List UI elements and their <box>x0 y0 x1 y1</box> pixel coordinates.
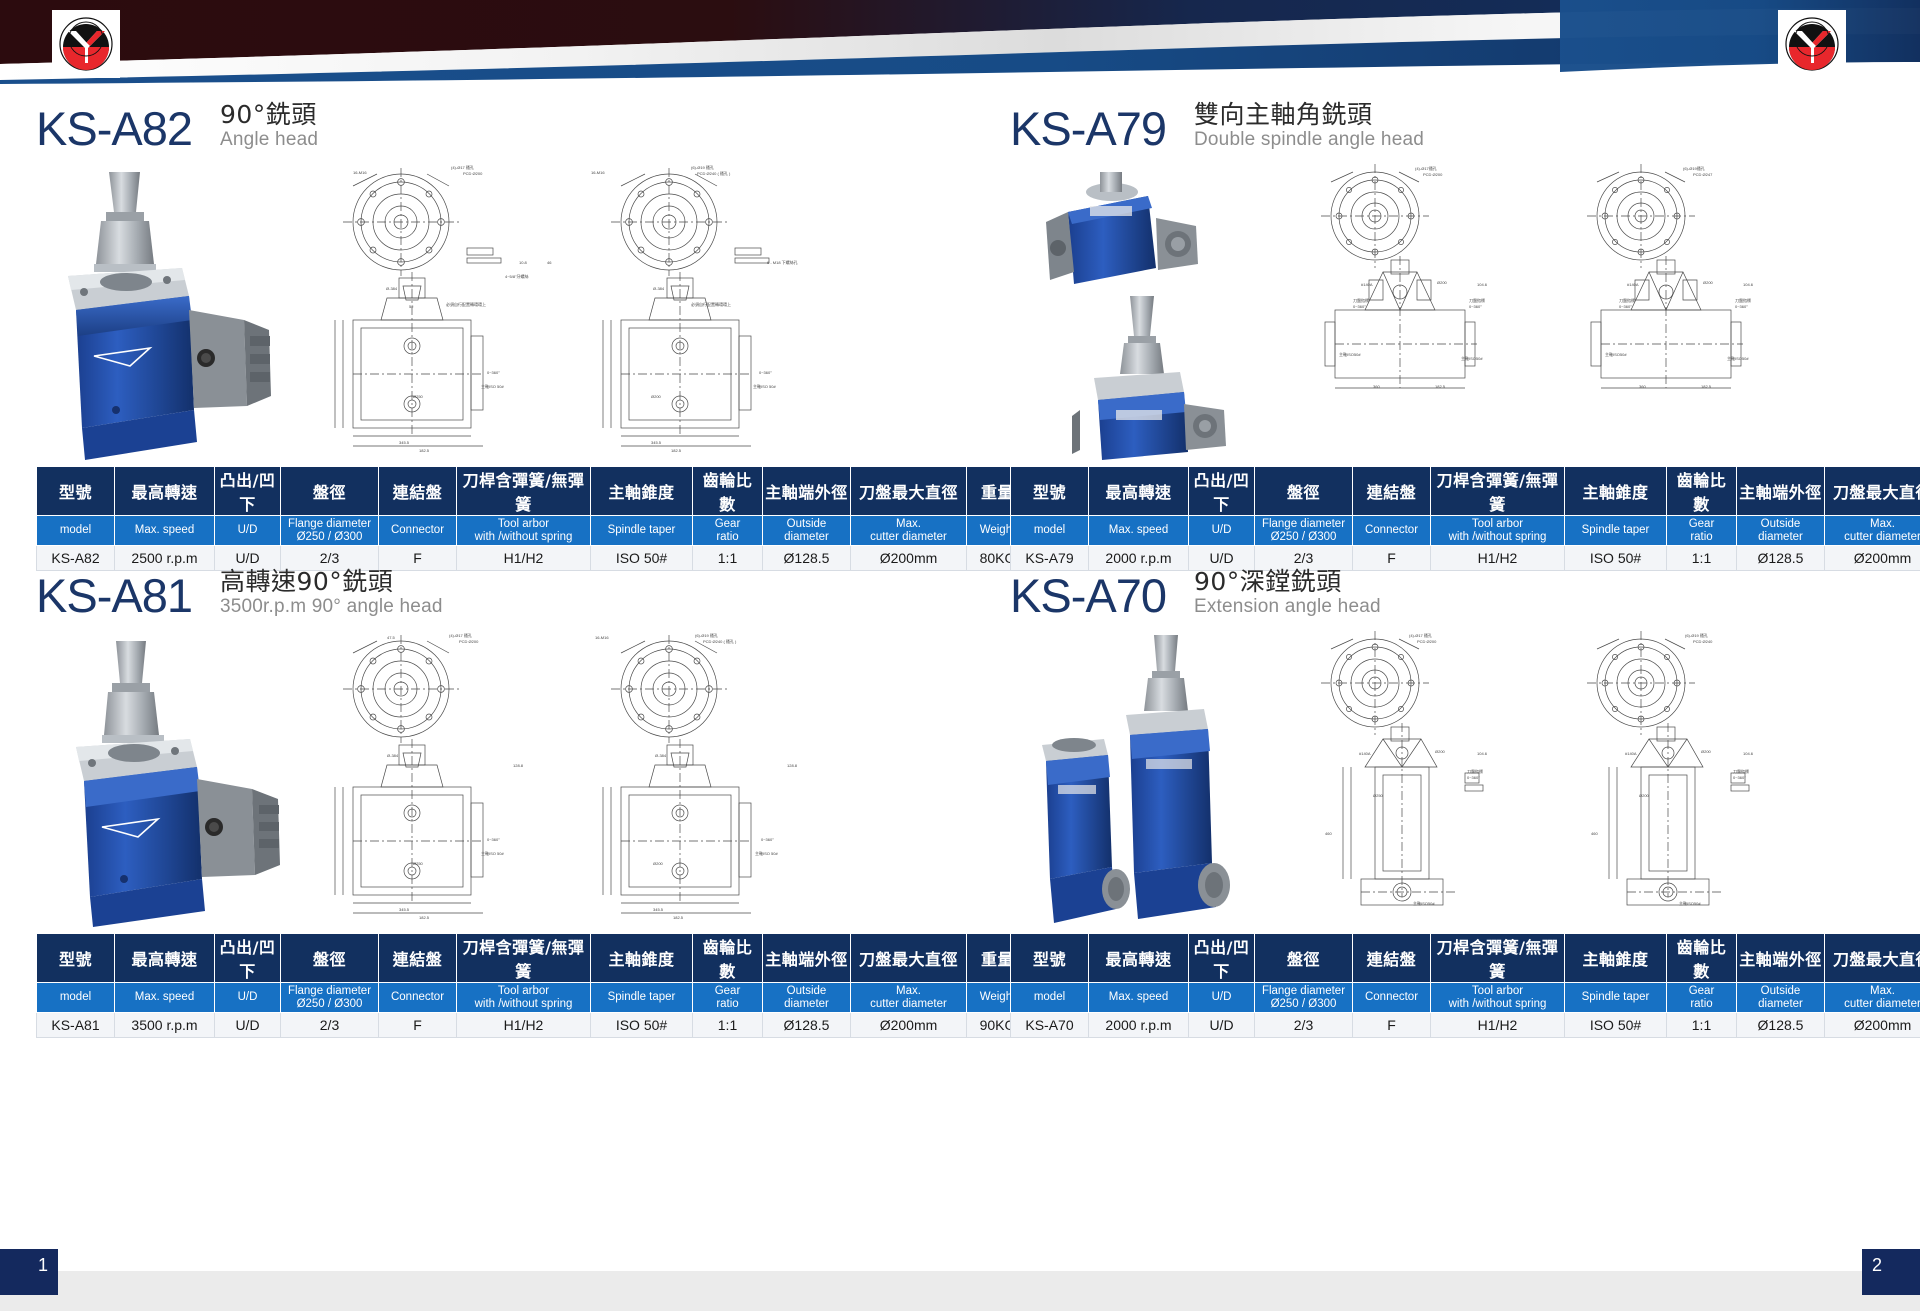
th-en-outside-diameter: Outsidediameter <box>763 516 851 546</box>
svg-text:刀盤指標: 刀盤指標 <box>1469 297 1485 303</box>
th-en-max-speed: Max. speed <box>115 983 215 1013</box>
th-en-connector: Connector <box>1353 516 1431 546</box>
svg-text:PCD Ø240: PCD Ø240 <box>1693 639 1713 644</box>
product-photo-ks-a81 <box>54 627 289 927</box>
page-number-right: 2 <box>1862 1249 1920 1295</box>
th-en-ud: U/D <box>1189 516 1255 546</box>
th-cn-ud: 凸出/凹下 <box>215 467 281 516</box>
product-visual-area: (4)-Ø17 通孔PCD Ø200 (6)-Ø19 通孔PCD Ø240 #1… <box>1010 627 1920 927</box>
th-cn-model: 型號 <box>1011 934 1089 983</box>
svg-text:#140A: #140A <box>1359 751 1371 756</box>
svg-text:460: 460 <box>1325 831 1332 836</box>
td-ud: U/D <box>215 1013 281 1038</box>
th-cn-max-speed: 最高轉速 <box>115 467 215 516</box>
th-cn-outside-diameter: 主軸端外徑 <box>763 467 851 516</box>
th-cn-connector: 連結盤 <box>379 467 457 516</box>
svg-text:(6)-Ø19通孔: (6)-Ø19通孔 <box>1683 165 1705 171</box>
td-spindle-taper: ISO 50# <box>591 1013 693 1038</box>
th-en-tool-arbor: Tool arborwith /without spring <box>1431 983 1565 1013</box>
td-tool-arbor: H1/H2 <box>1431 1013 1565 1038</box>
th-en-cutter-diameter: Max.cutter diameter <box>1825 516 1920 546</box>
svg-text:128.8: 128.8 <box>513 763 524 768</box>
svg-text:Ø-384: Ø-384 <box>386 286 398 291</box>
th-cn-model: 型號 <box>1011 467 1089 516</box>
svg-text:(4)-Ø17 通孔: (4)-Ø17 通孔 <box>1409 632 1432 638</box>
th-en-max-speed: Max. speed <box>1089 983 1189 1013</box>
td-gear-ratio: 1:1 <box>1667 1013 1737 1038</box>
product-visual-area: (4)-Ø17通孔PCD Ø200 (6)-Ø19通孔PCD Ø247 #140… <box>1010 160 1920 460</box>
product-title-en: 3500r.p.m 90° angle head <box>220 596 443 618</box>
th-en-spindle-taper: Spindle taper <box>591 516 693 546</box>
svg-text:0~360°: 0~360° <box>487 837 500 842</box>
th-cn-spindle-taper: 主軸錐度 <box>1565 467 1667 516</box>
svg-text:Ø-384: Ø-384 <box>655 753 667 758</box>
th-cn-model: 型號 <box>37 934 115 983</box>
svg-text:16-M16: 16-M16 <box>591 170 605 175</box>
technical-drawing-ks-a70: (4)-Ø17 通孔PCD Ø200 (6)-Ø19 通孔PCD Ø240 #1… <box>1265 627 1920 927</box>
td-cutter-diameter: Ø200mm <box>851 1013 967 1038</box>
th-en-gear-ratio: Gearratio <box>693 983 763 1013</box>
table-header-cn-row: 型號 最高轉速 凸出/凹下 盤徑 連結盤 刀桿含彈簧/無彈簧 主軸錐度 齒輪比數… <box>1011 934 1920 983</box>
svg-text:128.8: 128.8 <box>787 763 798 768</box>
product-model-code: KS-A81 <box>36 572 192 619</box>
svg-text:Ø200: Ø200 <box>1437 280 1448 285</box>
th-cn-tool-arbor: 刀桿含彈簧/無彈簧 <box>457 467 591 516</box>
svg-text:(4)-Ø17 通孔: (4)-Ø17 通孔 <box>451 164 474 170</box>
table-value-row: KS-A81 3500 r.p.m U/D 2/3 F H1/H2 ISO 50… <box>37 1013 1029 1038</box>
th-en-model: model <box>37 516 115 546</box>
th-cn-cutter-diameter: 刀盤最大直徑 <box>1825 934 1920 983</box>
svg-text:PCD Ø247: PCD Ø247 <box>1693 172 1713 177</box>
td-cutter-diameter: Ø200mm <box>1825 1013 1920 1038</box>
product-title-cn: 高轉速90°銑頭 <box>220 568 443 596</box>
svg-text:345.5: 345.5 <box>651 440 662 445</box>
th-en-outside-diameter: Outsidediameter <box>1737 983 1825 1013</box>
svg-text:0~360°: 0~360° <box>1619 304 1632 309</box>
th-cn-gear-ratio: 齒輪比數 <box>1667 467 1737 516</box>
table-header-en-row: model Max. speed U/D Flange diameterØ250… <box>1011 516 1920 546</box>
th-cn-tool-arbor: 刀桿含彈簧/無彈簧 <box>1431 934 1565 983</box>
th-en-flange-diameter: Flange diameterØ250 / Ø300 <box>1255 516 1353 546</box>
td-outside-diameter: Ø128.5 <box>763 1013 851 1038</box>
company-logo-right <box>1778 10 1846 78</box>
th-en-tool-arbor: Tool arborwith /without spring <box>457 983 591 1013</box>
th-en-connector: Connector <box>379 516 457 546</box>
product-visual-area: 47.5(4)-Ø17 通孔PCD Ø200 16-M16(6)-Ø19 通孔P… <box>36 627 961 927</box>
svg-text:(6)-Ø19 通孔: (6)-Ø19 通孔 <box>1685 632 1708 638</box>
th-en-model: model <box>37 983 115 1013</box>
svg-text:16-M16: 16-M16 <box>353 170 367 175</box>
th-en-outside-diameter: Outsidediameter <box>763 983 851 1013</box>
th-en-cutter-diameter: Max.cutter diameter <box>1825 983 1920 1013</box>
th-cn-ud: 凸出/凹下 <box>1189 934 1255 983</box>
th-cn-flange-diameter: 盤徑 <box>1255 934 1353 983</box>
th-cn-tool-arbor: 刀桿含彈簧/無彈簧 <box>1431 467 1565 516</box>
th-cn-flange-diameter: 盤徑 <box>281 467 379 516</box>
product-block-ks-a70: KS-A70 90°深鏜銑頭 Extension angle head <box>1010 555 1920 1038</box>
svg-text:0~360°: 0~360° <box>1353 304 1366 309</box>
svg-text:104.6: 104.6 <box>1477 282 1488 287</box>
svg-text:刀盤指標: 刀盤指標 <box>1735 297 1751 303</box>
product-visual-area: 16-M16(4)-Ø17 通孔 PCD Ø200 16-M16(6)-Ø19 … <box>36 160 961 460</box>
product-photo-ks-a79 <box>1028 160 1263 460</box>
th-cn-spindle-taper: 主軸錐度 <box>591 467 693 516</box>
th-cn-max-speed: 最高轉速 <box>1089 467 1189 516</box>
td-flange-diameter: 2/3 <box>1255 1013 1353 1038</box>
svg-text:345.5: 345.5 <box>653 907 664 912</box>
svg-text:104.6: 104.6 <box>1743 751 1754 756</box>
svg-text:182.5: 182.5 <box>671 448 682 453</box>
svg-text:刀盤指標: 刀盤指標 <box>1353 297 1369 303</box>
svg-text:主軸ISO50#: 主軸ISO50# <box>1461 355 1483 361</box>
svg-text:Ø200: Ø200 <box>1639 793 1650 798</box>
th-cn-max-speed: 最高轉速 <box>115 934 215 983</box>
logo-mark-icon <box>1783 15 1841 73</box>
spec-table-ks-a81: 型號 最高轉速 凸出/凹下 盤徑 連結盤 刀桿含彈簧/無彈簧 主軸錐度 齒輪比數… <box>36 933 1029 1038</box>
td-outside-diameter: Ø128.5 <box>1737 1013 1825 1038</box>
th-cn-flange-diameter: 盤徑 <box>1255 467 1353 516</box>
th-en-spindle-taper: Spindle taper <box>1565 983 1667 1013</box>
svg-text:0~360°: 0~360° <box>487 370 500 375</box>
svg-text:PCD Ø240 ( 通孔 ): PCD Ø240 ( 通孔 ) <box>703 638 737 644</box>
td-max-speed: 3500 r.p.m <box>115 1013 215 1038</box>
technical-drawing-ks-a79: (4)-Ø17通孔PCD Ø200 (6)-Ø19通孔PCD Ø247 #140… <box>1265 160 1920 460</box>
svg-text:#140A: #140A <box>1627 282 1639 287</box>
svg-text:PCD Ø200: PCD Ø200 <box>1423 172 1443 177</box>
th-cn-spindle-taper: 主軸錐度 <box>1565 934 1667 983</box>
td-connector: F <box>1353 1013 1431 1038</box>
catalog-page: KS-A82 90°銑頭 Angle head <box>0 0 1920 1311</box>
svg-text:46: 46 <box>547 260 552 265</box>
td-gear-ratio: 1:1 <box>693 1013 763 1038</box>
th-cn-outside-diameter: 主軸端外徑 <box>1737 934 1825 983</box>
svg-text:#140A: #140A <box>1361 282 1373 287</box>
svg-text:52: 52 <box>409 304 414 309</box>
product-title-en: Double spindle angle head <box>1194 129 1424 151</box>
table-header-cn-row: 型號 最高轉速 凸出/凹下 盤徑 連結盤 刀桿含彈簧/無彈簧 主軸錐度 齒輪比數… <box>1011 467 1920 516</box>
svg-text:345.5: 345.5 <box>399 907 410 912</box>
table-header-cn-row: 型號 最高轉速 凸出/凹下 盤徑 連結盤 刀桿含彈簧/無彈簧 主軸錐度 齒輪比數… <box>37 467 1029 516</box>
th-en-cutter-diameter: Max.cutter diameter <box>851 516 967 546</box>
spec-table-ks-a70: 型號 最高轉速 凸出/凹下 盤徑 連結盤 刀桿含彈簧/無彈簧 主軸錐度 齒輪比數… <box>1010 933 1920 1038</box>
th-cn-cutter-diameter: 刀盤最大直徑 <box>851 467 967 516</box>
svg-text:Ø200: Ø200 <box>1703 280 1714 285</box>
td-flange-diameter: 2/3 <box>281 1013 379 1038</box>
th-en-ud: U/D <box>1189 983 1255 1013</box>
th-cn-tool-arbor: 刀桿含彈簧/無彈簧 <box>457 934 591 983</box>
product-title-row: KS-A81 高轉速90°銑頭 3500r.p.m 90° angle head <box>36 555 961 619</box>
th-en-spindle-taper: Spindle taper <box>1565 516 1667 546</box>
svg-text:0~360°: 0~360° <box>1467 775 1480 780</box>
svg-text:Ø-384: Ø-384 <box>653 286 665 291</box>
svg-text:PCD Ø200: PCD Ø200 <box>1417 639 1437 644</box>
svg-text:16-M16: 16-M16 <box>595 635 609 640</box>
product-block-ks-a81: KS-A81 高轉速90°銑頭 3500r.p.m 90° angle head <box>36 555 961 1038</box>
th-en-max-speed: Max. speed <box>1089 516 1189 546</box>
svg-text:主軸ISO 50#: 主軸ISO 50# <box>481 850 504 856</box>
logo-mark-icon <box>57 15 115 73</box>
product-title-cn: 90°深鏜銑頭 <box>1194 568 1381 596</box>
table-value-row: KS-A70 2000 r.p.m U/D 2/3 F H1/H2 ISO 50… <box>1011 1013 1920 1038</box>
th-cn-connector: 連結盤 <box>1353 934 1431 983</box>
th-en-ud: U/D <box>215 516 281 546</box>
th-cn-ud: 凸出/凹下 <box>215 934 281 983</box>
product-title-cn: 90°銑頭 <box>220 101 318 129</box>
th-en-flange-diameter: Flange diameterØ250 / Ø300 <box>1255 983 1353 1013</box>
svg-text:PCD Ø200: PCD Ø200 <box>459 639 479 644</box>
product-block-ks-a82: KS-A82 90°銑頭 Angle head <box>36 88 961 571</box>
th-cn-cutter-diameter: 刀盤最大直徑 <box>1825 467 1920 516</box>
svg-text:Ø-384: Ø-384 <box>387 753 399 758</box>
svg-text:(4)-Ø17 通孔: (4)-Ø17 通孔 <box>449 632 472 638</box>
svg-text:主軸ISO50#: 主軸ISO50# <box>1727 355 1749 361</box>
th-en-tool-arbor: Tool arborwith /without spring <box>457 516 591 546</box>
table-header-cn-row: 型號 最高轉速 凸出/凹下 盤徑 連結盤 刀桿含彈簧/無彈簧 主軸錐度 齒輪比數… <box>37 934 1029 983</box>
th-en-gear-ratio: Gearratio <box>693 516 763 546</box>
th-en-model: model <box>1011 516 1089 546</box>
th-cn-gear-ratio: 齒輪比數 <box>1667 934 1737 983</box>
th-cn-max-speed: 最高轉速 <box>1089 934 1189 983</box>
svg-text:0~360°: 0~360° <box>759 370 772 375</box>
svg-text:182.5: 182.5 <box>673 915 684 920</box>
td-model: KS-A70 <box>1011 1013 1089 1038</box>
svg-text:104.6: 104.6 <box>1743 282 1754 287</box>
th-en-spindle-taper: Spindle taper <box>591 983 693 1013</box>
product-title-row: KS-A79 雙向主軸角銑頭 Double spindle angle head <box>1010 88 1920 152</box>
table-header-en-row: model Max. speed U/D Flange diameterØ250… <box>37 983 1029 1013</box>
page-number-left: 1 <box>0 1249 58 1295</box>
svg-text:182.5: 182.5 <box>419 448 430 453</box>
svg-text:主軸ISO50#: 主軸ISO50# <box>1339 351 1361 357</box>
th-en-max-speed: Max. speed <box>115 516 215 546</box>
svg-text:Ø200: Ø200 <box>651 394 662 399</box>
svg-text:4~5/8"牙螺絲: 4~5/8"牙螺絲 <box>505 273 529 279</box>
header-banner <box>0 0 1920 90</box>
th-en-flange-diameter: Flange diameterØ250 / Ø300 <box>281 983 379 1013</box>
technical-drawing-ks-a81: 47.5(4)-Ø17 通孔PCD Ø200 16-M16(6)-Ø19 通孔P… <box>291 627 959 927</box>
product-title-en: Angle head <box>220 129 318 151</box>
th-en-outside-diameter: Outsidediameter <box>1737 516 1825 546</box>
td-model: KS-A81 <box>37 1013 115 1038</box>
svg-text:主軸ISO 50#: 主軸ISO 50# <box>481 383 504 389</box>
svg-text:0~360°: 0~360° <box>761 837 774 842</box>
company-logo-left <box>52 10 120 78</box>
svg-text:0~360°: 0~360° <box>1735 304 1748 309</box>
svg-text:10.8: 10.8 <box>519 260 528 265</box>
svg-text:Ø200: Ø200 <box>653 861 664 866</box>
th-en-connector: Connector <box>379 983 457 1013</box>
th-cn-model: 型號 <box>37 467 115 516</box>
th-cn-ud: 凸出/凹下 <box>1189 467 1255 516</box>
svg-text:Ø200: Ø200 <box>1435 749 1446 754</box>
td-tool-arbor: H1/H2 <box>457 1013 591 1038</box>
svg-text:主軸ISO50#: 主軸ISO50# <box>1605 351 1627 357</box>
th-en-flange-diameter: Flange diameterØ250 / Ø300 <box>281 516 379 546</box>
svg-text:6 - M18 下螺絲孔: 6 - M18 下螺絲孔 <box>767 259 798 265</box>
table-header-en-row: model Max. speed U/D Flange diameterØ250… <box>1011 983 1920 1013</box>
th-cn-flange-diameter: 盤徑 <box>281 934 379 983</box>
svg-text:345.5: 345.5 <box>399 440 410 445</box>
svg-text:0~360°: 0~360° <box>1469 304 1482 309</box>
footer-bar <box>0 1271 1920 1311</box>
svg-text:182.5: 182.5 <box>419 915 430 920</box>
svg-text:Ø250: Ø250 <box>1373 793 1384 798</box>
product-title-cn: 雙向主軸角銑頭 <box>1194 101 1424 129</box>
svg-text:(4)-Ø17通孔: (4)-Ø17通孔 <box>1415 165 1437 171</box>
th-en-tool-arbor: Tool arborwith /without spring <box>1431 516 1565 546</box>
product-title-row: KS-A70 90°深鏜銑頭 Extension angle head <box>1010 555 1920 619</box>
svg-text:主軸ISO 50#: 主軸ISO 50# <box>755 850 778 856</box>
svg-text:460: 460 <box>1591 831 1598 836</box>
th-cn-outside-diameter: 主軸端外徑 <box>1737 467 1825 516</box>
product-title-en: Extension angle head <box>1194 596 1381 618</box>
svg-text:主軸ISO 50#: 主軸ISO 50# <box>753 383 776 389</box>
td-ud: U/D <box>1189 1013 1255 1038</box>
th-en-gear-ratio: Gearratio <box>1667 516 1737 546</box>
th-cn-connector: 連結盤 <box>379 934 457 983</box>
th-cn-gear-ratio: 齒輪比數 <box>693 467 763 516</box>
svg-text:刀盤指標: 刀盤指標 <box>1619 297 1635 303</box>
product-block-ks-a79: KS-A79 雙向主軸角銑頭 Double spindle angle head <box>1010 88 1920 571</box>
th-cn-connector: 連結盤 <box>1353 467 1431 516</box>
th-en-model: model <box>1011 983 1089 1013</box>
th-en-connector: Connector <box>1353 983 1431 1013</box>
product-photo-ks-a82 <box>54 160 289 460</box>
svg-text:必須自行配置轉環環上: 必須自行配置轉環環上 <box>691 301 731 307</box>
th-cn-cutter-diameter: 刀盤最大直徑 <box>851 934 967 983</box>
th-en-cutter-diameter: Max.cutter diameter <box>851 983 967 1013</box>
product-photo-ks-a70 <box>1028 627 1263 927</box>
th-en-gear-ratio: Gearratio <box>1667 983 1737 1013</box>
svg-text:(6)-Ø19 通孔: (6)-Ø19 通孔 <box>695 632 718 638</box>
th-en-ud: U/D <box>215 983 281 1013</box>
td-spindle-taper: ISO 50# <box>1565 1013 1667 1038</box>
product-model-code: KS-A82 <box>36 105 192 152</box>
th-cn-gear-ratio: 齒輪比數 <box>693 934 763 983</box>
svg-text:PCD Ø240 ( 通孔 ): PCD Ø240 ( 通孔 ) <box>697 170 731 176</box>
svg-text:104.6: 104.6 <box>1477 751 1488 756</box>
td-connector: F <box>379 1013 457 1038</box>
svg-text:47.5: 47.5 <box>387 635 396 640</box>
th-cn-spindle-taper: 主軸錐度 <box>591 934 693 983</box>
svg-text:0~360°: 0~360° <box>1733 775 1746 780</box>
table-header-en-row: model Max. speed U/D Flange diameterØ250… <box>37 516 1029 546</box>
td-max-speed: 2000 r.p.m <box>1089 1013 1189 1038</box>
technical-drawing-ks-a82: 16-M16(4)-Ø17 通孔 PCD Ø200 16-M16(6)-Ø19 … <box>291 160 959 460</box>
product-model-code: KS-A70 <box>1010 572 1166 619</box>
th-cn-outside-diameter: 主軸端外徑 <box>763 934 851 983</box>
svg-text:#140A: #140A <box>1625 751 1637 756</box>
product-model-code: KS-A79 <box>1010 105 1166 152</box>
product-title-row: KS-A82 90°銑頭 Angle head <box>36 88 961 152</box>
svg-text:PCD Ø200: PCD Ø200 <box>463 171 483 176</box>
svg-text:Ø200: Ø200 <box>1701 749 1712 754</box>
svg-text:必須自行配置轉環環上: 必須自行配置轉環環上 <box>446 301 486 307</box>
svg-text:(6)-Ø19 通孔: (6)-Ø19 通孔 <box>691 164 714 170</box>
